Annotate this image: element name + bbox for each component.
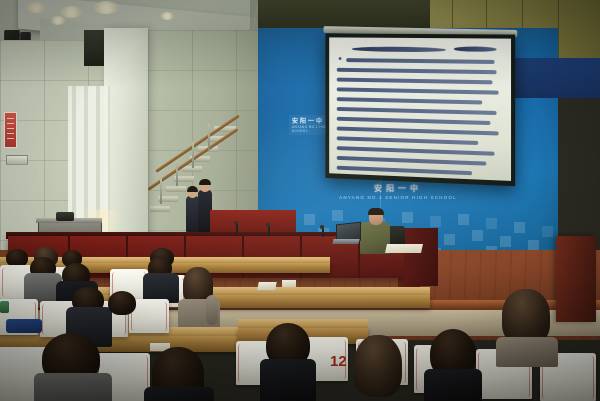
downlight-icon bbox=[160, 12, 174, 20]
projector-unit bbox=[56, 212, 74, 221]
school-name-english: ANYANG NO.1 SENIOR HIGH SCHOOL bbox=[336, 195, 460, 200]
audience-head bbox=[108, 291, 136, 315]
notebook-on-desk bbox=[282, 280, 296, 287]
cup-on-desk bbox=[0, 301, 9, 313]
school-name-sign: 安阳一中 ANYANG NO.1 SENIOR HIGH SCHOOL bbox=[336, 183, 460, 200]
presenter-hair bbox=[368, 208, 384, 215]
bag-on-desk bbox=[6, 319, 42, 333]
audience-seating: 12 bbox=[0, 255, 600, 401]
audience-torso bbox=[424, 369, 482, 401]
papers-on-desk bbox=[385, 244, 423, 253]
microphone-stand bbox=[322, 228, 324, 237]
microphone-stand bbox=[268, 226, 270, 235]
auditorium-photo: 安阳一中 ANYANG NO.1 HIGH SCHOOL 安阳一中 ANYANG… bbox=[0, 0, 600, 401]
microphone-head-icon bbox=[234, 221, 238, 225]
wall-notice-sign bbox=[4, 112, 17, 148]
downlight-icon bbox=[26, 2, 46, 13]
projection-screen bbox=[325, 33, 515, 186]
audience-torso bbox=[260, 359, 316, 401]
standing-person-hair bbox=[199, 179, 211, 185]
notebook-on-desk bbox=[257, 282, 276, 290]
laptop-keyboard bbox=[332, 239, 359, 244]
audience-torso bbox=[34, 373, 112, 401]
projection-screen-surface bbox=[329, 37, 511, 181]
audience-torso bbox=[144, 387, 214, 401]
microphone-stand bbox=[236, 224, 238, 234]
standing-person-hair bbox=[187, 186, 198, 192]
backdrop-logo-chinese: 安阳一中 bbox=[292, 116, 324, 125]
school-name-chinese: 安阳一中 bbox=[336, 183, 460, 194]
microphone-head-icon bbox=[320, 225, 324, 229]
wall-strip-dark bbox=[258, 0, 438, 30]
wall-plate-sign bbox=[6, 155, 28, 165]
downlight-icon bbox=[50, 16, 66, 25]
audience-arm bbox=[206, 295, 218, 325]
audience-head bbox=[354, 335, 402, 397]
downlight-icon bbox=[93, 1, 119, 14]
seat-number-label: 12 bbox=[330, 353, 347, 370]
microphone-head-icon bbox=[266, 223, 270, 227]
audience-torso bbox=[496, 337, 558, 367]
